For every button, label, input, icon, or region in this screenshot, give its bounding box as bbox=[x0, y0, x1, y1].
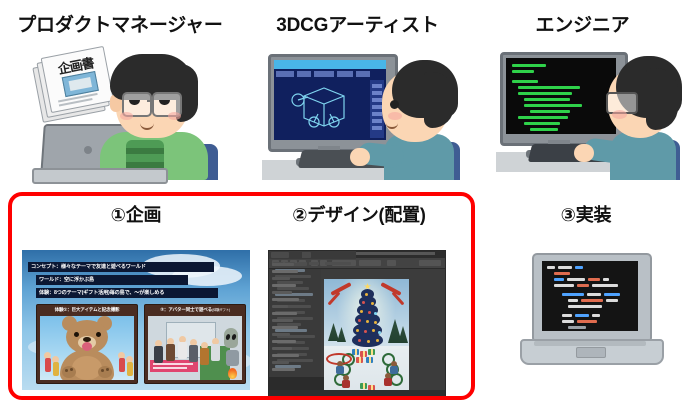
step-title-design: ②デザイン(配置) bbox=[253, 201, 465, 227]
person-coding-at-pc-icon bbox=[496, 48, 676, 180]
christmas-tree-scene bbox=[324, 279, 409, 394]
christmas-tree-icon bbox=[352, 283, 382, 353]
person-at-laptop-icon: 企画書 bbox=[28, 48, 218, 180]
role-title-engineer: エンジニア bbox=[478, 10, 687, 37]
avatar-party-photo-icon bbox=[148, 316, 242, 380]
giant-teddy-bear-photo-icon bbox=[40, 316, 134, 380]
green-code-screen-icon bbox=[506, 58, 616, 134]
role-title-3dcg-artist: 3DCGアーティスト bbox=[240, 10, 475, 37]
code-editor-screen bbox=[542, 261, 638, 331]
plan-card-bear-caption: 体験①：巨大アイテムと記念撮影 bbox=[37, 305, 137, 315]
proposal-papers-icon: 企画書 bbox=[31, 45, 119, 121]
planning-slide: コンセプト：様々なテーマで友達と遊べるワールド ワールド：空に浮かぶ島 体験：8… bbox=[22, 250, 250, 390]
editor-statusbar bbox=[269, 390, 445, 396]
laptop-code-icon bbox=[520, 253, 660, 385]
person-at-3d-modeling-pc-icon bbox=[262, 48, 458, 180]
plan-line-experience: 体験：8つのテーマ(ギフト活用)毎の島で、～が楽しめる bbox=[36, 288, 218, 298]
plan-card-avatars-caption: ②：アバター同士で遊べる(体験ギフト) bbox=[145, 305, 245, 315]
diagram-stage: プロダクトマネージャー 3DCGアーティスト エンジニア 企画書 bbox=[0, 0, 687, 410]
plan-line-concept: コンセプト：様々なテーマで友達と遊べるワールド bbox=[28, 262, 214, 272]
plan-card-avatars: ②：アバター同士で遊べる(体験ギフト) bbox=[144, 304, 246, 384]
unity-style-editor[interactable] bbox=[268, 250, 446, 397]
step-title-implementation: ③実装 bbox=[496, 201, 676, 227]
wireframe-model-icon bbox=[288, 82, 350, 134]
plan-card-bear: 体験①：巨大アイテムと記念撮影 bbox=[36, 304, 138, 384]
step-title-planning: ①企画 bbox=[22, 201, 250, 227]
plan-line-world: ワールド：空に浮かぶ島 bbox=[36, 275, 188, 285]
role-title-product-manager: プロダクトマネージャー bbox=[0, 10, 240, 37]
